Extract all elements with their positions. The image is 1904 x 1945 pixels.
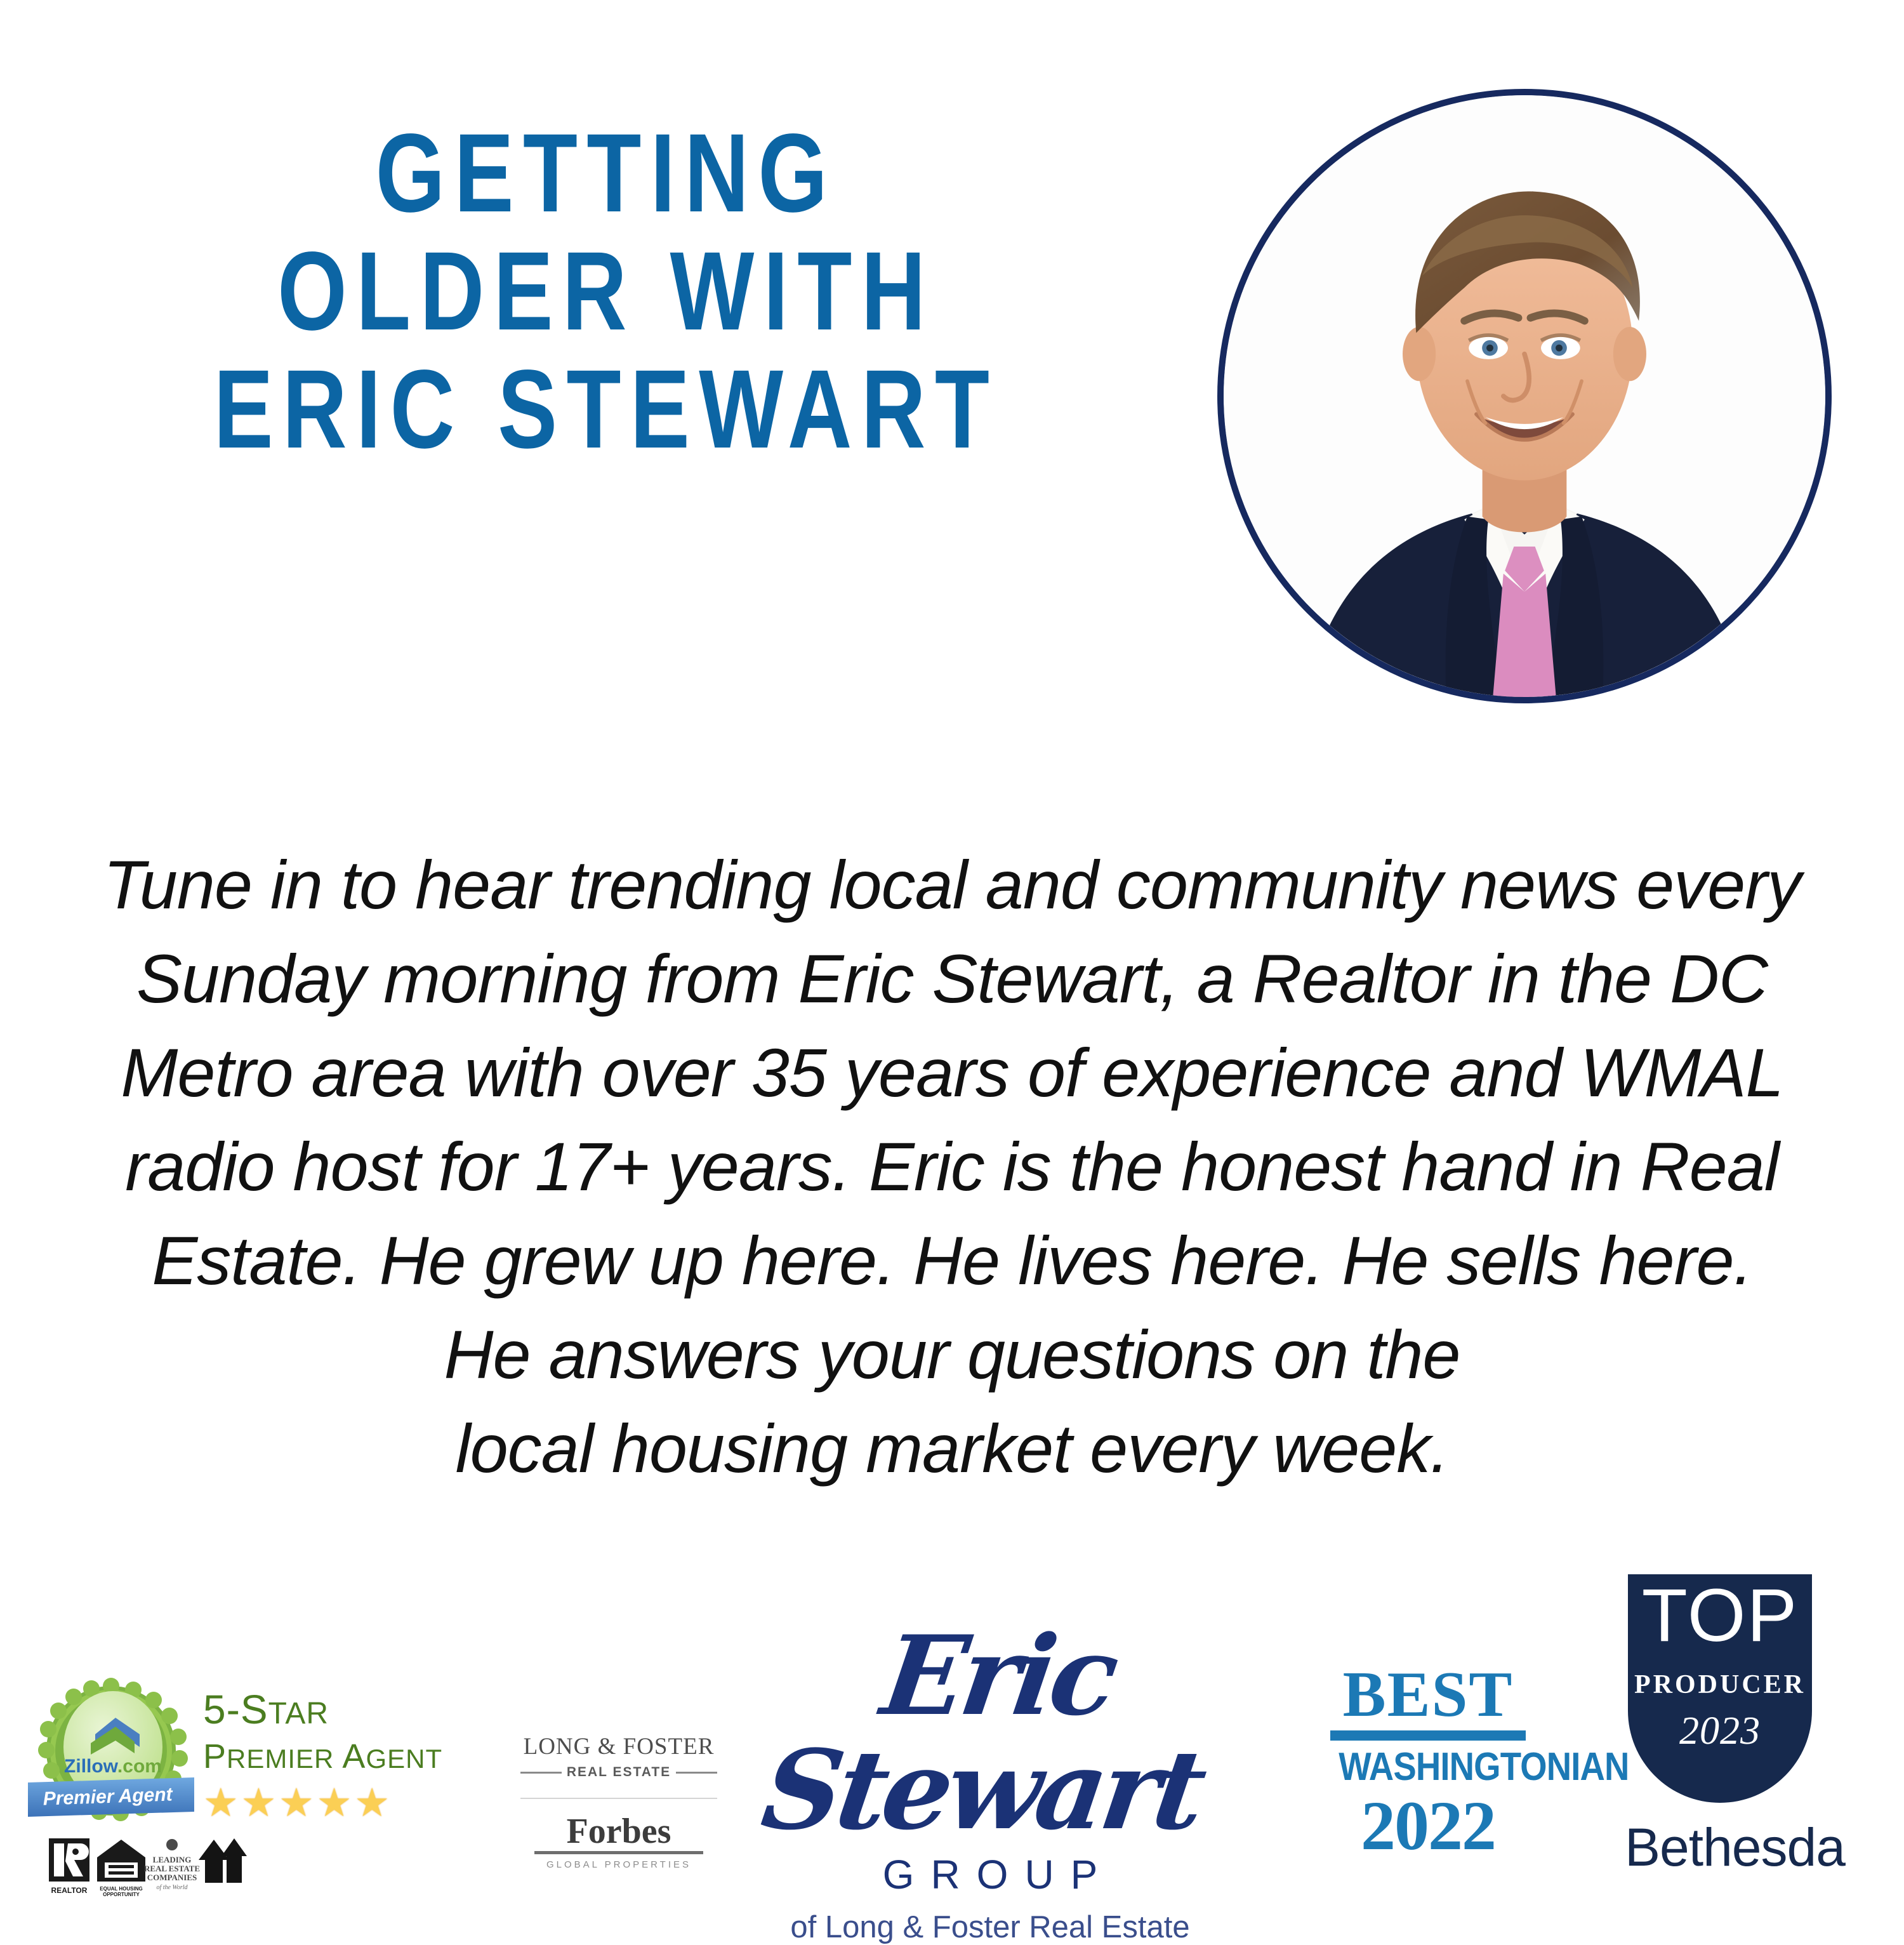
svg-text:OPPORTUNITY: OPPORTUNITY bbox=[103, 1892, 140, 1897]
body-line-6: He answers your questions on the bbox=[25, 1308, 1879, 1402]
description-paragraph: Tune in to hear trending local and commu… bbox=[25, 838, 1879, 1496]
top-producer-badge: TOP PRODUCER 2023 Bethesda bbox=[1625, 1574, 1815, 1878]
bethesda-magazine-label: Bethesda bbox=[1625, 1817, 1815, 1878]
washingtonian-label: WASHINGTONIAN bbox=[1339, 1747, 1517, 1788]
producer-label: PRODUCER bbox=[1628, 1670, 1812, 1700]
best-washingtonian-badge: BEST WASHINGTONIAN 2022 bbox=[1326, 1663, 1530, 1861]
body-line-3: Metro area with over 35 years of experie… bbox=[25, 1026, 1879, 1120]
rule-left bbox=[520, 1772, 562, 1774]
top-producer-year: 2023 bbox=[1628, 1709, 1812, 1754]
svg-text:Zillow.com: Zillow.com bbox=[64, 1756, 162, 1777]
premier-agent-label: PREMIER AGENT bbox=[203, 1736, 457, 1779]
body-line-5: Estate. He grew up here. He lives here. … bbox=[25, 1214, 1879, 1308]
forbes-wordmark: Forbes bbox=[520, 1813, 717, 1850]
svg-text:REAL ESTATE: REAL ESTATE bbox=[144, 1864, 200, 1873]
eric-stewart-group-tagline: of Long & Foster Real Estate bbox=[736, 1909, 1244, 1945]
equal-housing-opportunity-icon: EQUAL HOUSING OPPORTUNITY bbox=[97, 1840, 145, 1897]
forbes-rule bbox=[534, 1851, 703, 1854]
svg-text:LEADING: LEADING bbox=[153, 1855, 192, 1864]
five-star-label: 5-STAR bbox=[203, 1687, 457, 1736]
group-word: GROUP bbox=[736, 1851, 1244, 1898]
luxury-portfolio-arrows-icon bbox=[199, 1838, 247, 1883]
forbes-subtitle: GLOBAL PROPERTIES bbox=[520, 1859, 717, 1870]
svg-text:REALTOR: REALTOR bbox=[51, 1886, 88, 1895]
avatar bbox=[1217, 89, 1832, 703]
page-title: GETTING OLDER WITH ERIC STEWART bbox=[38, 114, 1174, 468]
promo-card: GETTING OLDER WITH ERIC STEWART bbox=[0, 0, 1904, 1904]
leading-real-estate-companies-icon: LEADING REAL ESTATE COMPANIES of the Wor… bbox=[144, 1839, 200, 1891]
top-label: TOP bbox=[1628, 1578, 1812, 1653]
membership-icons-row: REALTOR EQUAL HOUSING OPPORTUNITY LEADIN… bbox=[48, 1835, 257, 1904]
body-line-4: radio host for 17+ years. Eric is the ho… bbox=[25, 1120, 1879, 1214]
zillow-rating-text: 5-STAR PREMIER AGENT ★★★★★ bbox=[203, 1687, 457, 1824]
realtor-r-icon: REALTOR bbox=[49, 1838, 89, 1895]
title-line-2: OLDER WITH bbox=[152, 232, 1061, 350]
long-and-foster-name: LONG & FOSTER bbox=[520, 1733, 717, 1760]
eric-stewart-script-wordmark: Eric Stewart bbox=[720, 1619, 1260, 1847]
eric-stewart-group-logo: Eric Stewart GROUP of Long & Foster Real… bbox=[736, 1619, 1244, 1945]
washingtonian-year: 2022 bbox=[1326, 1790, 1530, 1861]
best-rule bbox=[1330, 1730, 1526, 1741]
logo-divider bbox=[520, 1798, 717, 1799]
svg-text:EQUAL HOUSING: EQUAL HOUSING bbox=[100, 1886, 142, 1892]
svg-text:COMPANIES: COMPANIES bbox=[147, 1873, 197, 1882]
portrait-illustration bbox=[1224, 95, 1825, 697]
zillow-badge-icon: Zillow.com Premier Agent bbox=[19, 1676, 203, 1835]
long-and-foster-subtitle-row: REAL ESTATE bbox=[520, 1765, 717, 1780]
long-and-foster-subtitle: REAL ESTATE bbox=[567, 1765, 671, 1780]
top-producer-shield: TOP PRODUCER 2023 bbox=[1628, 1574, 1812, 1803]
zillow-premier-agent-badge-group: Zillow.com Premier Agent 5-STAR PREMIER … bbox=[13, 1670, 457, 1904]
title-line-3: ERIC STEWART bbox=[152, 350, 1061, 468]
body-line-1: Tune in to hear trending local and commu… bbox=[25, 838, 1879, 932]
svg-text:of the World: of the World bbox=[156, 1884, 188, 1891]
rule-right bbox=[676, 1772, 717, 1774]
star-rating: ★★★★★ bbox=[203, 1783, 457, 1824]
title-line-1: GETTING bbox=[152, 114, 1061, 232]
body-line-7: local housing market every week. bbox=[25, 1402, 1879, 1496]
body-line-2: Sunday morning from Eric Stewart, a Real… bbox=[25, 932, 1879, 1026]
best-label: BEST bbox=[1326, 1663, 1530, 1727]
logo-strip: Zillow.com Premier Agent 5-STAR PREMIER … bbox=[0, 1574, 1904, 1904]
long-and-foster-logo: LONG & FOSTER REAL ESTATE Forbes GLOBAL … bbox=[520, 1733, 717, 1870]
